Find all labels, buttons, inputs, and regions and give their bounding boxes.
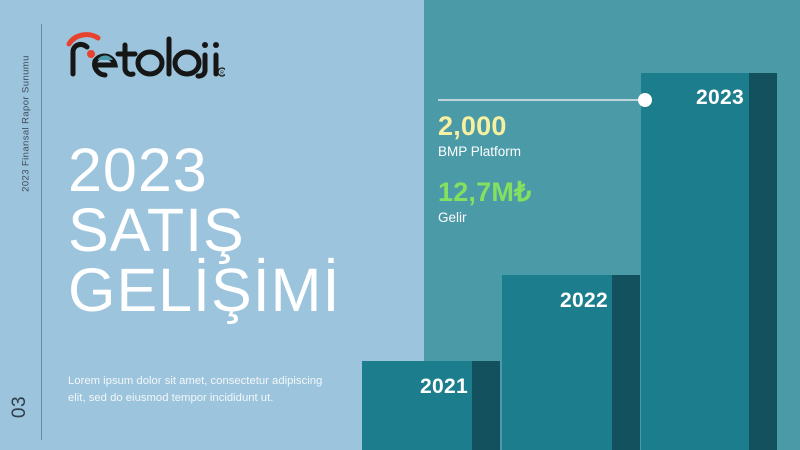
body-paragraph: Lorem ipsum dolor sit amet, consectetur … [68,373,330,407]
stat-bmp-platform-value: 2,000 [438,112,668,141]
callout-dot-icon [638,93,652,107]
slide-canvas: 2023 Finansal Rapor Sunumu 03 [0,0,800,450]
bar-2023-side [749,73,777,450]
logo-letter-i-dot [213,42,219,48]
stat-bmp-platform: 2,000 BMP Platform [438,112,668,161]
logo-icon: R [65,27,225,79]
logo-letter-n [73,45,87,74]
logo-letter-j-dot [202,42,208,48]
stat-bmp-platform-label: BMP Platform [438,143,668,161]
page-title-line-1: 2023 [68,141,398,201]
page-title-line-2: SATIŞ [68,201,398,261]
vertical-divider [41,24,42,440]
page-title: 2023 SATIŞ GELİŞİMİ [68,141,398,320]
stat-gelir-label: Gelir [438,209,668,227]
bar-2021-label: 2021 [420,375,468,399]
bar-2022-side [612,275,640,450]
netoloji-logo: R [65,27,225,79]
callout-leader-line [438,99,643,101]
logo-letter-o1 [138,52,162,74]
logo-letter-t [125,45,133,74]
page-number: 03 [9,385,31,429]
bar-2022-label: 2022 [560,289,608,313]
bar-2021-side [472,361,500,450]
logo-letter-o2 [175,52,199,74]
stat-gelir: 12,7M₺ Gelir [438,178,668,227]
logo-dot-icon [87,50,95,58]
bar-2022: 2022 [502,275,640,450]
page-title-line-3: GELİŞİMİ [68,261,398,321]
presentation-side-label: 2023 Finansal Rapor Sunumu [21,34,32,214]
bar-2021: 2021 [362,361,500,450]
stat-gelir-value: 12,7M₺ [438,178,668,207]
svg-text:R: R [220,71,224,77]
bar-2023-label: 2023 [696,86,744,110]
stats-group: 2,000 BMP Platform 12,7M₺ Gelir [438,112,668,226]
